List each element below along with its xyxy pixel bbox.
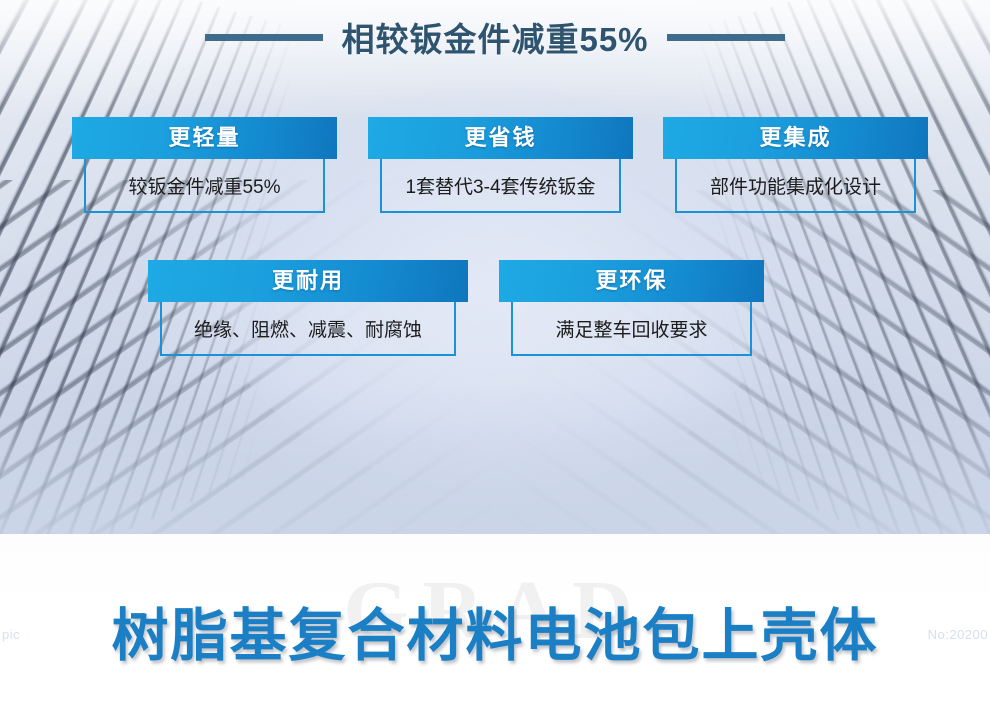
bottom-title-band: GRAD pic No:20200 树脂基复合材料电池包上壳体 bbox=[0, 534, 990, 724]
background-stripes-right-lower bbox=[500, 190, 990, 534]
feature-card-cheaper: 更省钱 1套替代3-4套传统钣金 bbox=[368, 117, 633, 213]
feature-card-durable-title: 更耐用 bbox=[148, 260, 468, 302]
background-stripes-left-lower bbox=[0, 180, 490, 534]
feature-card-lighter-title: 更轻量 bbox=[72, 117, 337, 159]
feature-card-eco-title: 更环保 bbox=[499, 260, 764, 302]
feature-card-eco: 更环保 满足整车回收要求 bbox=[499, 260, 764, 356]
feature-card-cheaper-title: 更省钱 bbox=[368, 117, 633, 159]
feature-card-lighter: 更轻量 较钣金件减重55% bbox=[72, 117, 337, 213]
product-main-title: 树脂基复合材料电池包上壳体 bbox=[0, 590, 990, 672]
headline-rule-right bbox=[667, 34, 785, 41]
feature-card-eco-body: 满足整车回收要求 bbox=[511, 302, 752, 356]
headline-title: 相较钣金件减重55% bbox=[341, 13, 648, 61]
feature-card-lighter-body: 较钣金件减重55% bbox=[84, 159, 325, 213]
headline-rule-left bbox=[205, 34, 323, 41]
feature-card-integrated: 更集成 部件功能集成化设计 bbox=[663, 117, 928, 213]
feature-card-integrated-body: 部件功能集成化设计 bbox=[675, 159, 916, 213]
feature-card-cheaper-body: 1套替代3-4套传统钣金 bbox=[380, 159, 621, 213]
feature-card-durable: 更耐用 绝缘、阻燃、减震、耐腐蚀 bbox=[148, 260, 468, 356]
feature-card-durable-body: 绝缘、阻燃、减震、耐腐蚀 bbox=[160, 302, 456, 356]
headline: 相较钣金件减重55% bbox=[0, 10, 990, 64]
feature-card-integrated-title: 更集成 bbox=[663, 117, 928, 159]
